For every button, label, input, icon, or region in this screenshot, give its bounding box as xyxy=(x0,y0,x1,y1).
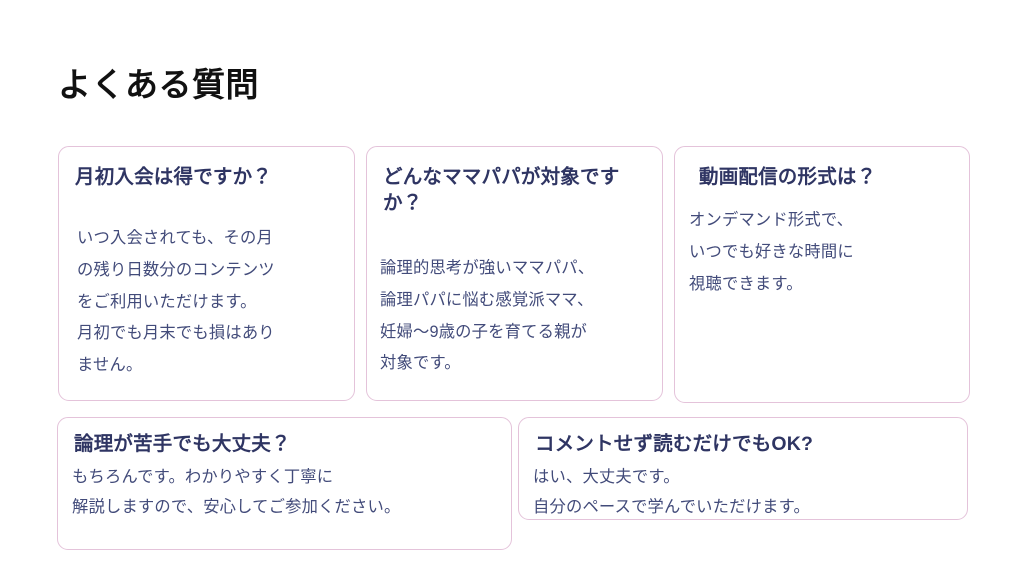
faq-answer-2: 論理的思考が強いママパパ、 論理パパに悩む感覚派ママ、 妊婦〜9歳の子を育てる親… xyxy=(380,253,594,380)
faq-question-1: 月初入会は得ですか？ xyxy=(75,164,272,190)
faq-slide: よくある質問 月初入会は得ですか？ いつ入会されても、その月 の残り日数分のコン… xyxy=(0,0,1024,576)
faq-card-3[interactable]: 動画配信の形式は？ オンデマンド形式で、 いつでも好きな時間に 視聴できます。 xyxy=(674,146,970,403)
faq-card-5[interactable]: コメントせず読むだけでもOK? はい、大丈夫です。 自分のペースで学んでいただけ… xyxy=(518,417,968,520)
faq-question-3: 動画配信の形式は？ xyxy=(699,164,876,190)
faq-card-1[interactable]: 月初入会は得ですか？ いつ入会されても、その月 の残り日数分のコンテンツ をご利… xyxy=(58,146,355,401)
faq-answer-3: オンデマンド形式で、 いつでも好きな時間に 視聴できます。 xyxy=(689,205,854,300)
faq-answer-4: もちろんです。わかりやすく丁寧に 解説しますので、安心してご参加ください。 xyxy=(72,462,401,522)
faq-card-2[interactable]: どんなママパパが対象ですか？ 論理的思考が強いママパパ、 論理パパに悩む感覚派マ… xyxy=(366,146,663,401)
faq-answer-1: いつ入会されても、その月 の残り日数分のコンテンツ をご利用いただけます。 月初… xyxy=(77,223,275,382)
faq-question-2: どんなママパパが対象ですか？ xyxy=(383,164,645,217)
page-title: よくある質問 xyxy=(58,65,259,105)
faq-question-4: 論理が苦手でも大丈夫？ xyxy=(74,431,291,457)
faq-card-4[interactable]: 論理が苦手でも大丈夫？ もちろんです。わかりやすく丁寧に 解説しますので、安心し… xyxy=(57,417,512,550)
faq-question-5: コメントせず読むだけでもOK? xyxy=(535,431,813,457)
faq-answer-5: はい、大丈夫です。 自分のペースで学んでいただけます。 xyxy=(533,462,810,522)
